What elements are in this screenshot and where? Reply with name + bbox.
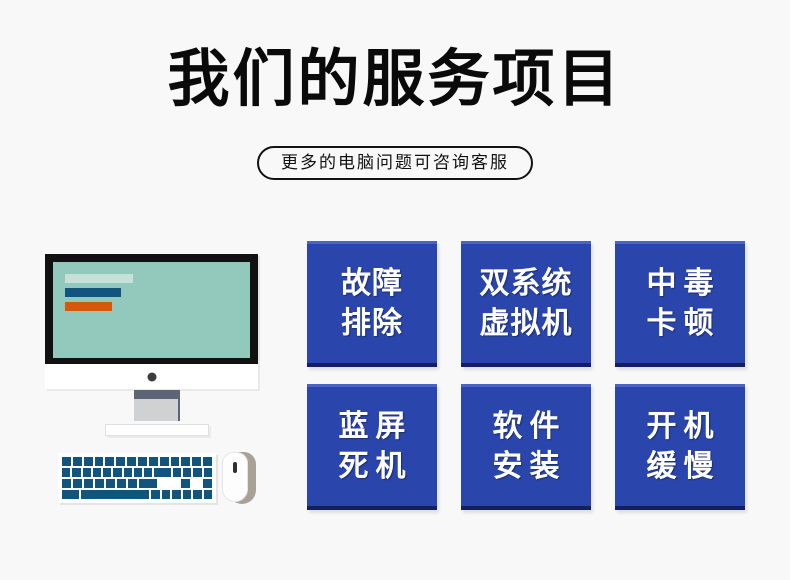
service-label-line1: 开机 [640, 407, 721, 447]
monitor-stand-neck [134, 399, 180, 421]
monitor-chin [45, 364, 258, 389]
service-box-dual-system-virtual-machine[interactable]: 双系统 虚拟机 [461, 241, 591, 367]
keyboard-row [62, 457, 212, 466]
service-label-line2: 安装 [486, 447, 567, 487]
keyboard-row [62, 468, 212, 477]
monitor-logo-dot [147, 372, 156, 381]
service-box-software-installation[interactable]: 软件 安装 [461, 384, 591, 510]
service-box-fault-troubleshooting[interactable]: 故障 排除 [307, 241, 437, 367]
desktop-computer-illustration [30, 240, 285, 515]
monitor-bezel [45, 254, 258, 364]
page-title: 我们的服务项目 [0, 42, 790, 116]
service-label-line1: 双系统 [480, 264, 573, 304]
service-label-line2: 排除 [341, 304, 403, 344]
service-grid: 故障 排除 双系统 虚拟机 中毒 卡顿 蓝屏 死机 软件 安装 开机 缓慢 [307, 241, 745, 510]
page-root: 我们的服务项目 更多的电脑问题可咨询客服 [0, 0, 790, 580]
service-label-line2: 卡顿 [640, 304, 721, 344]
keyboard-row [62, 479, 212, 488]
service-label-line1: 故障 [341, 264, 403, 304]
service-label-line2: 虚拟机 [480, 304, 573, 344]
mouse [222, 452, 256, 504]
service-label-line2: 死机 [332, 447, 413, 487]
subtitle-pill: 更多的电脑问题可咨询客服 [257, 146, 533, 180]
screen-bar-blue [65, 288, 121, 297]
keyboard-row [62, 490, 212, 499]
keyboard [58, 453, 216, 503]
monitor-screen [53, 262, 250, 358]
screen-bar-orange [65, 302, 112, 311]
service-label-line1: 蓝屏 [332, 407, 413, 447]
service-box-slow-boot[interactable]: 开机 缓慢 [615, 384, 745, 510]
service-label-line2: 缓慢 [640, 447, 721, 487]
subtitle-text: 更多的电脑问题可咨询客服 [281, 155, 509, 172]
monitor-stand-base [105, 424, 209, 436]
service-label-line1: 软件 [486, 407, 567, 447]
service-label-line1: 中毒 [640, 264, 721, 304]
service-box-blue-screen-crash[interactable]: 蓝屏 死机 [307, 384, 437, 510]
service-box-virus-lag[interactable]: 中毒 卡顿 [615, 241, 745, 367]
screen-bar-light [65, 274, 133, 283]
monitor-stand-top [134, 390, 180, 399]
mouse-scroll-wheel [233, 462, 237, 473]
mouse-body [222, 452, 248, 502]
